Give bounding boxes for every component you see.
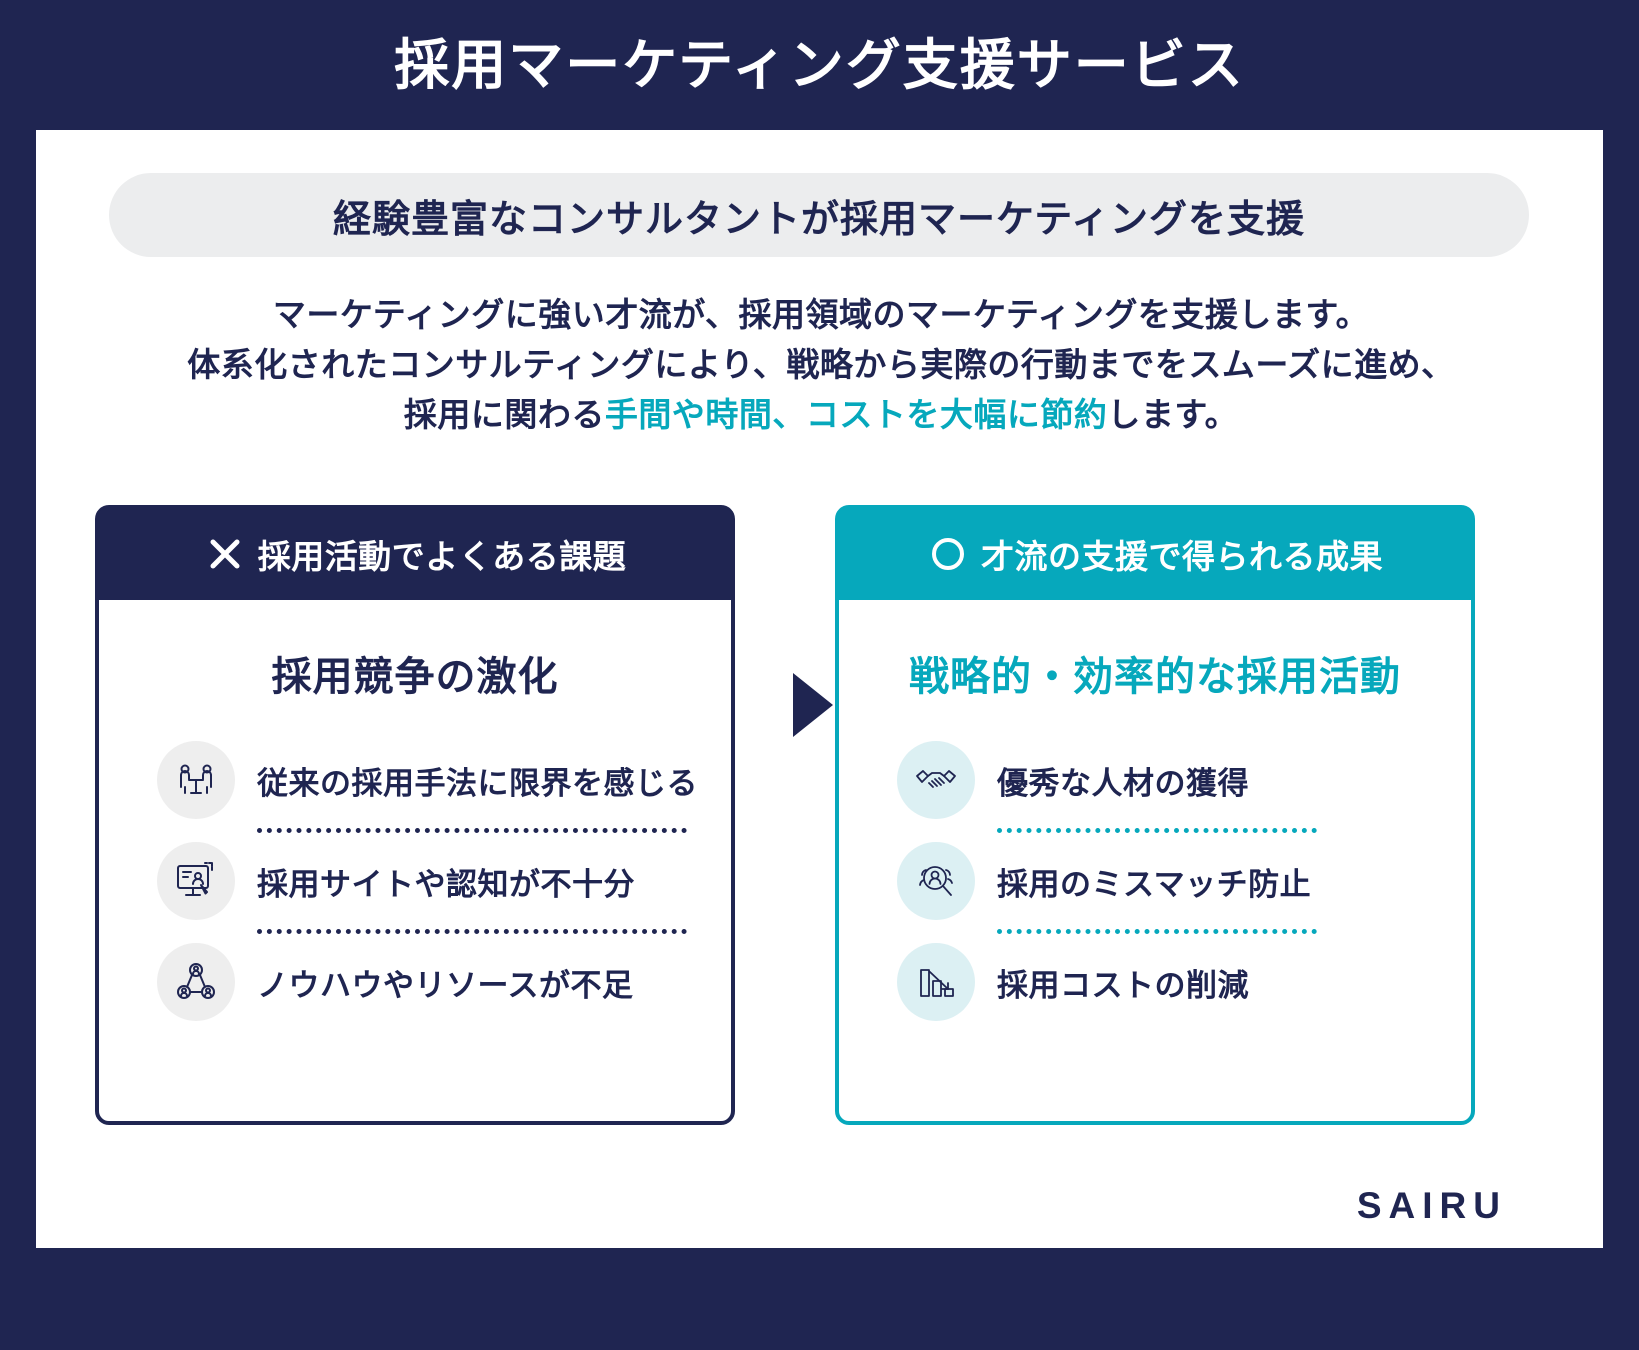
list-item-label: 採用のミスマッチ防止 bbox=[997, 859, 1311, 904]
lead-line-1: マーケティングに強い才流が、採用領域のマーケティングを支援します。 bbox=[76, 290, 1566, 340]
person-search-icon bbox=[897, 842, 975, 920]
cross-icon bbox=[204, 533, 246, 575]
lead-line-3-post: します。 bbox=[1107, 396, 1238, 433]
list-item-label: 従来の採用手法に限界を感じる bbox=[257, 758, 698, 803]
list-item: ノウハウやリソースが不足 bbox=[157, 934, 731, 1030]
card-results-header-label: 才流の支援で得られる成果 bbox=[981, 530, 1383, 578]
circle-icon bbox=[927, 533, 969, 575]
content-sheet: 経験豊富なコンサルタントが採用マーケティングを支援 マーケティングに強い才流が、… bbox=[36, 130, 1603, 1248]
card-problems: 採用活動でよくある課題 採用競争の激化 bbox=[95, 505, 735, 1125]
sairu-logo: SAIRU bbox=[1357, 1185, 1507, 1227]
lead-line-2: 体系化されたコンサルティングにより、戦略から実際の行動までをスムーズに進め、 bbox=[76, 340, 1566, 390]
list-item-label: ノウハウやリソースが不足 bbox=[257, 960, 633, 1005]
handshake-icon bbox=[897, 741, 975, 819]
lead-paragraph: マーケティングに強い才流が、採用領域のマーケティングを支援します。 体系化された… bbox=[76, 290, 1566, 440]
card-results-title: 戦略的・効率的な採用活動 bbox=[839, 644, 1471, 702]
card-results: 才流の支援で得られる成果 戦略的・効率的な採用活動 bbox=[835, 505, 1475, 1125]
declining-bar-chart-icon bbox=[897, 943, 975, 1021]
card-problems-title: 採用競争の激化 bbox=[99, 644, 731, 702]
card-problems-header-label: 採用活動でよくある課題 bbox=[258, 530, 627, 578]
banner-pill: 経験豊富なコンサルタントが採用マーケティングを支援 bbox=[109, 173, 1529, 257]
list-item-label: 採用コストの削減 bbox=[997, 960, 1249, 1005]
list-item-label: 優秀な人材の獲得 bbox=[997, 758, 1249, 803]
card-results-item-list: 優秀な人材の獲得 bbox=[839, 732, 1471, 1030]
list-item-label: 採用サイトや認知が不十分 bbox=[257, 859, 635, 904]
banner-label: 経験豊富なコンサルタントが採用マーケティングを支援 bbox=[333, 188, 1305, 243]
card-results-header: 才流の支援で得られる成果 bbox=[838, 508, 1472, 600]
lead-line-3-highlight: 手間や時間、コストを大幅に節約 bbox=[605, 396, 1108, 433]
lead-line-3-pre: 採用に関わる bbox=[404, 396, 605, 433]
poster-root: 採用マーケティング支援サービス 経験豊富なコンサルタントが採用マーケティングを支… bbox=[0, 0, 1639, 1350]
list-item: 採用コストの削減 bbox=[897, 934, 1471, 1030]
list-item: 優秀な人材の獲得 bbox=[897, 732, 1471, 828]
list-item: 従来の採用手法に限界を感じる bbox=[157, 732, 731, 828]
card-problems-header: 採用活動でよくある課題 bbox=[98, 508, 732, 600]
network-people-icon bbox=[157, 943, 235, 1021]
lead-line-3: 採用に関わる手間や時間、コストを大幅に節約します。 bbox=[76, 390, 1566, 440]
arrow-right-icon bbox=[793, 673, 833, 737]
list-item: 採用のミスマッチ防止 bbox=[897, 833, 1471, 929]
card-row: 採用活動でよくある課題 採用競争の激化 bbox=[36, 505, 1603, 1145]
page-title: 採用マーケティング支援サービス bbox=[394, 38, 1245, 93]
monitor-user-icon bbox=[157, 842, 235, 920]
list-item: 採用サイトや認知が不十分 bbox=[157, 833, 731, 929]
interview-icon bbox=[157, 741, 235, 819]
card-problems-item-list: 従来の採用手法に限界を感じる bbox=[99, 732, 731, 1030]
title-bar: 採用マーケティング支援サービス bbox=[0, 0, 1639, 130]
